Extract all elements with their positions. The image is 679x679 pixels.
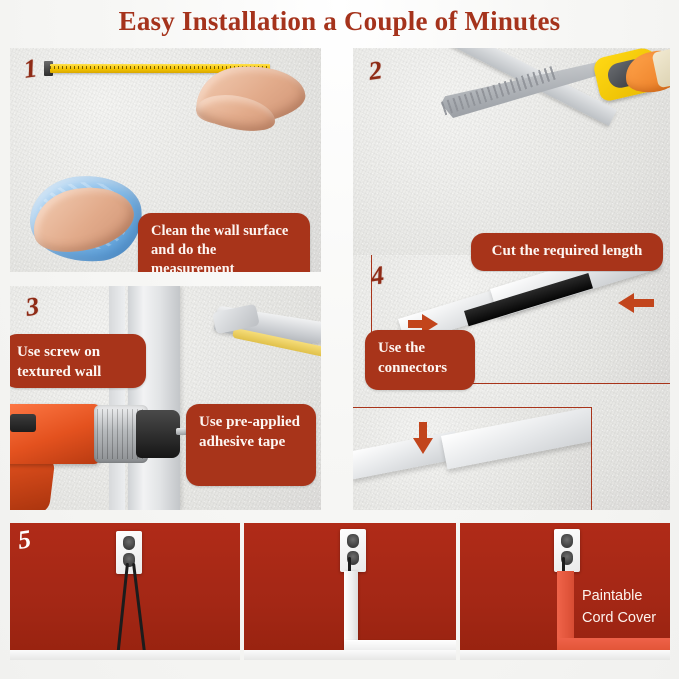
step-3-caption-screw: Use screw on textured wall [10, 334, 146, 388]
arrow-left-icon [618, 293, 634, 313]
step-3-caption-tape: Use pre-applied adhesive tape [186, 404, 316, 486]
step-2-caption: Cut the required length [471, 233, 663, 271]
cord-cover-channel [128, 286, 180, 510]
step-5-caption: Paintable Cord Cover [582, 585, 670, 630]
step-5-panel: 5 Paintable Cord Cover [10, 523, 670, 671]
scene-painted-cover: Paintable Cord Cover [460, 523, 670, 660]
wall-outlet-icon [554, 529, 580, 572]
power-cord-1 [116, 563, 129, 660]
step-2-panel: 2 Cut the required length [353, 48, 670, 272]
arrow-right-tail [634, 299, 654, 307]
step-4-panel: 4 Use the connectors [353, 255, 670, 510]
infographic-page: Easy Installation a Couple of Minutes 1 … [0, 0, 679, 679]
drill-chuck-icon [136, 410, 180, 458]
wall-outlet-icon [340, 529, 366, 572]
step-number-5: 5 [16, 524, 33, 556]
step-4-caption: Use the connectors [365, 330, 475, 390]
step-3-panel: 3 Use screw on textured wall Use pre-app… [10, 286, 321, 510]
outlet-socket-top [561, 534, 573, 548]
baseboard [460, 650, 670, 660]
step-1-panel: 1 Clean the wall surface and do the meas… [10, 48, 321, 272]
arrow-down-icon [413, 438, 433, 454]
drill-body-icon [10, 404, 100, 464]
scene-white-cover [244, 523, 456, 660]
outlet-socket-top [347, 534, 359, 548]
outlet-socket-top [123, 536, 135, 550]
connector-detail-bottom [353, 407, 592, 510]
baseboard [244, 650, 456, 660]
baseboard [10, 650, 240, 660]
page-title: Easy Installation a Couple of Minutes [0, 6, 679, 37]
cord-cover-edge [109, 286, 125, 510]
step-1-caption: Clean the wall surface and do the measur… [138, 213, 310, 272]
power-cord-2 [132, 563, 147, 660]
wall-outlet-icon [116, 531, 142, 574]
scene-loose-cords: 5 [10, 523, 240, 660]
